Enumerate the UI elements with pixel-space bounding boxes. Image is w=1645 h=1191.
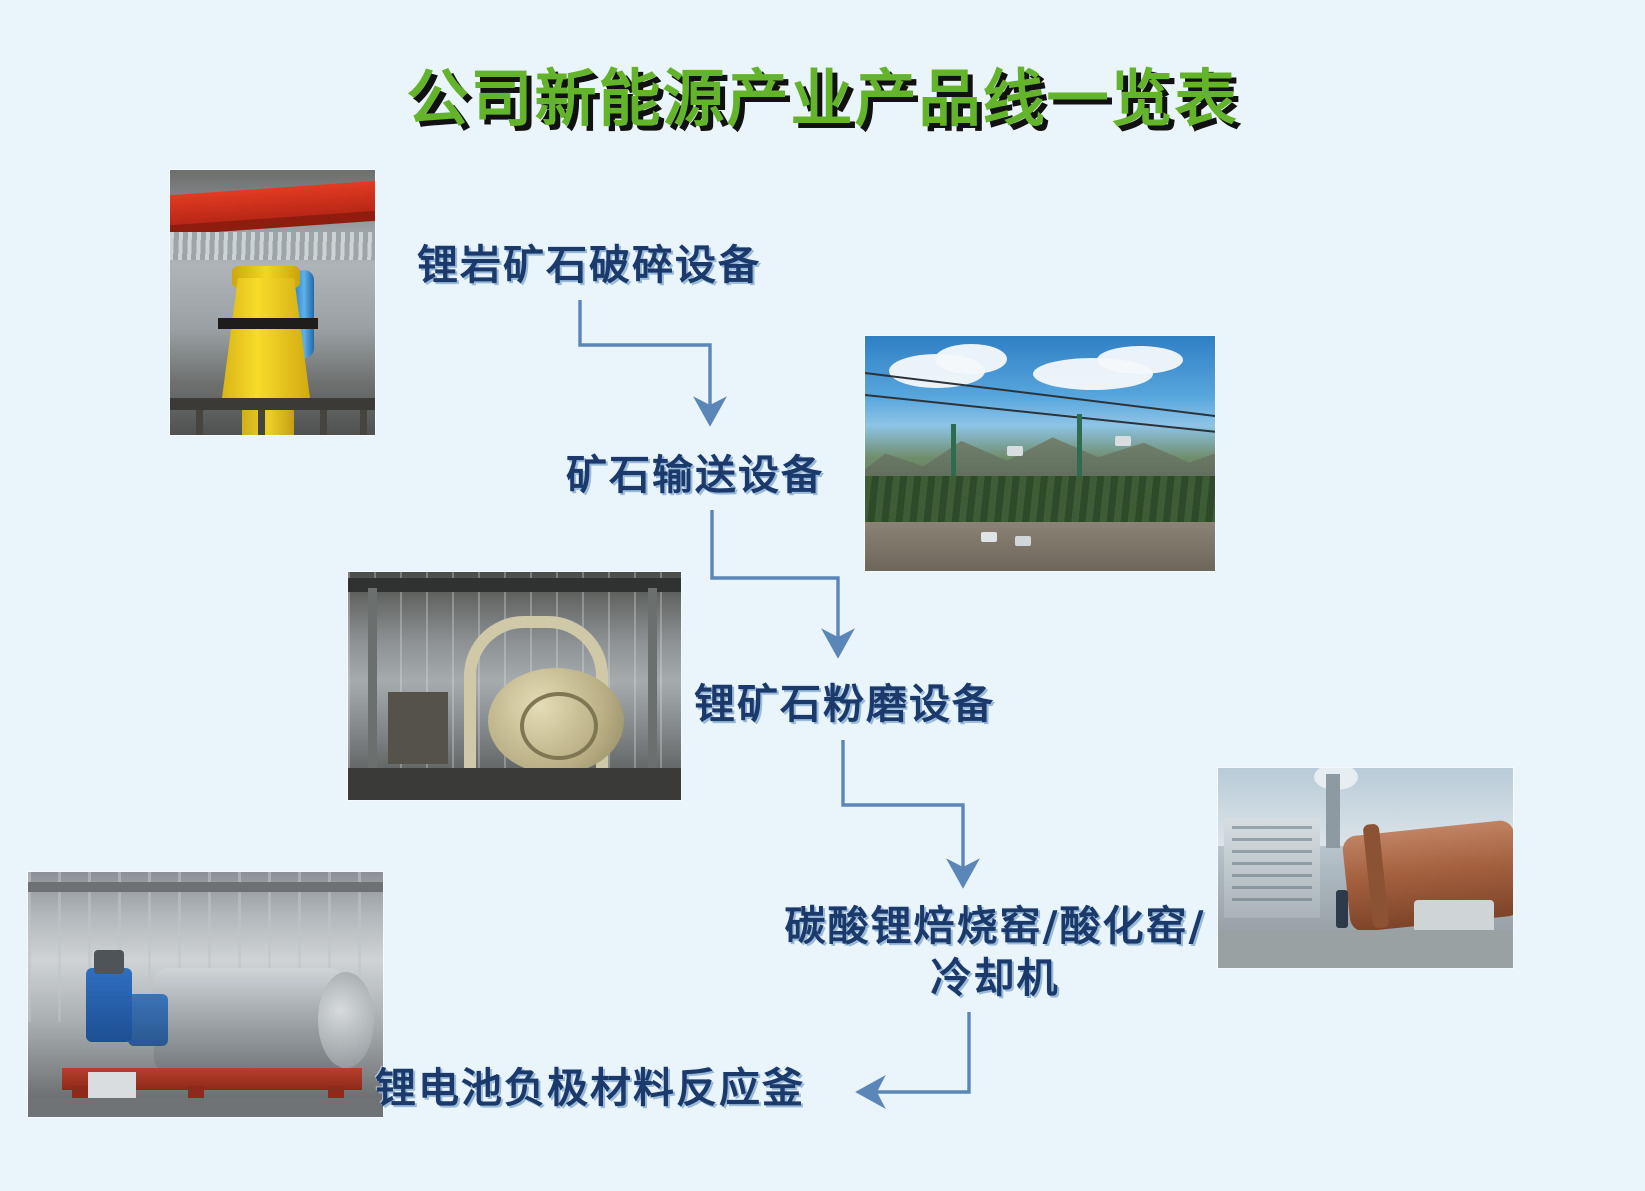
- rotary-kiln-photo: [1218, 768, 1513, 968]
- ball-mill-photo: [348, 572, 681, 800]
- slide-canvas: 公司新能源产业产品线一览表: [0, 0, 1645, 1191]
- flow-label-conveying: 矿石输送设备: [566, 449, 824, 501]
- page-title: 公司新能源产业产品线一览表: [0, 48, 1645, 138]
- reactor-vessel-photo: [28, 872, 383, 1117]
- arrow-step4-to-step5: [862, 1012, 969, 1092]
- arrow-step3-to-step4: [843, 740, 963, 882]
- flow-label-crushing: 锂岩矿石破碎设备: [417, 239, 761, 291]
- cone-crusher-photo: [170, 170, 375, 435]
- mountain-ropeway-photo: [865, 336, 1215, 571]
- arrow-step2-to-step3: [712, 510, 838, 652]
- flow-label-kiln: 碳酸锂焙烧窑/酸化窑/ 冷却机: [760, 900, 1230, 1005]
- arrow-step1-to-step2: [580, 300, 710, 420]
- flow-label-reactor: 锂电池负极材料反应釜: [375, 1062, 805, 1114]
- flow-label-grinding: 锂矿石粉磨设备: [694, 678, 995, 730]
